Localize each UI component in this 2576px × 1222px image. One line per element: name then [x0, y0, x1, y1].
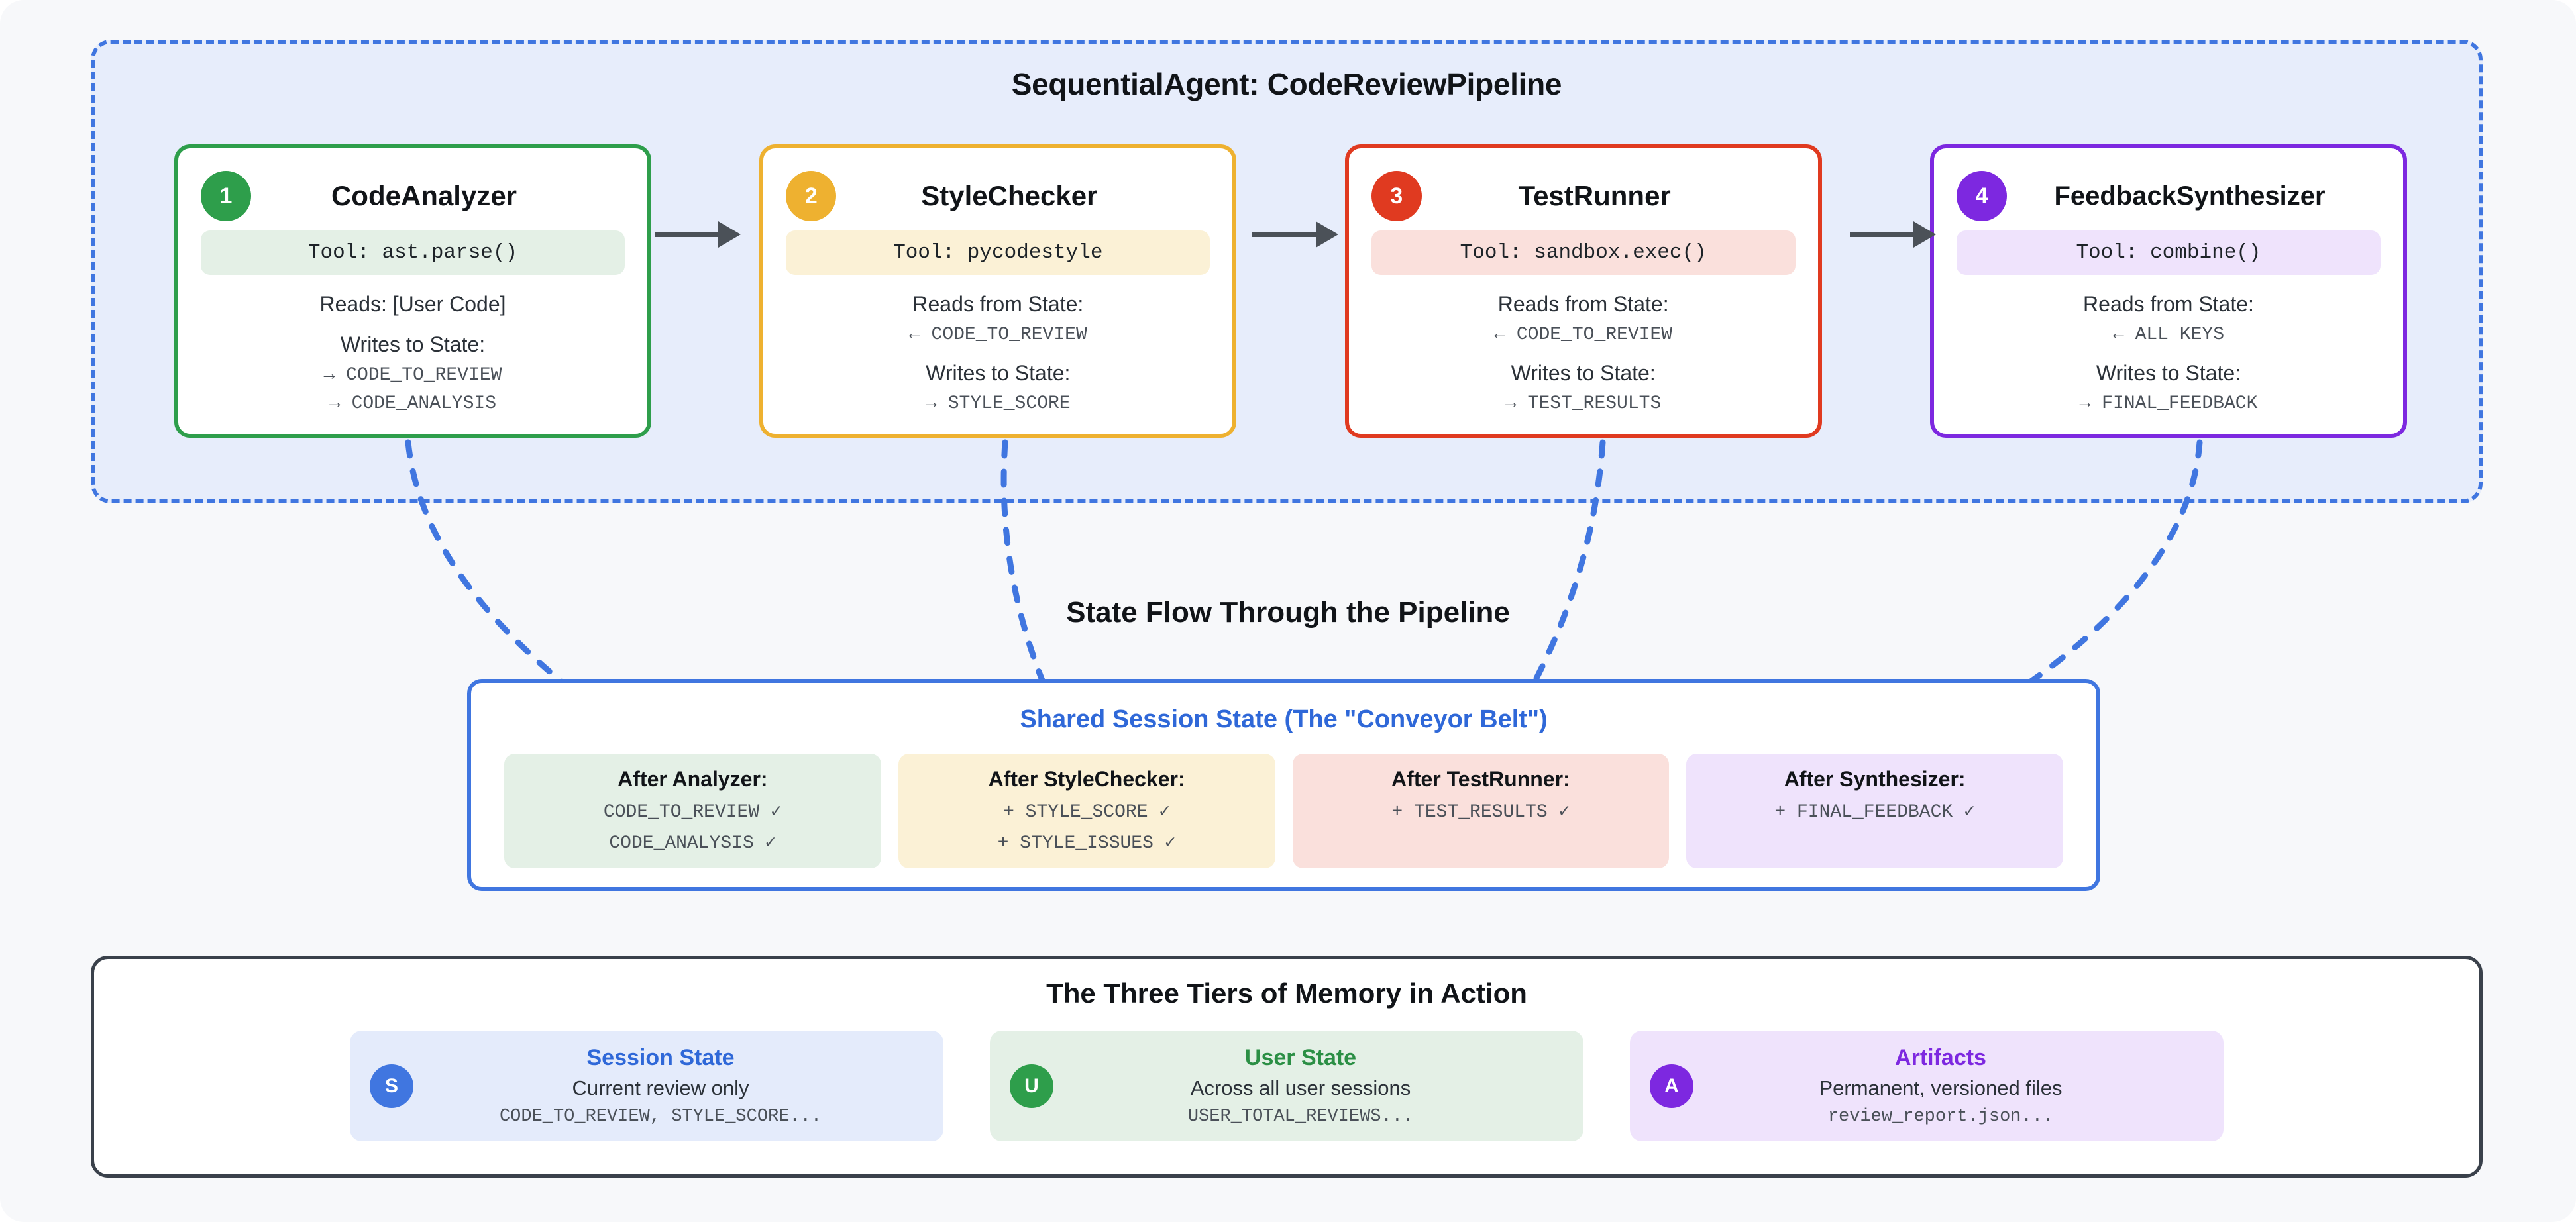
agent-reads-label: Reads from State:: [1957, 292, 2381, 317]
state-flow-heading: State Flow Through the Pipeline: [0, 596, 2576, 629]
agent-step-badge: 1: [201, 171, 251, 221]
stage-key: CODE_TO_REVIEW ✓: [513, 799, 872, 823]
tier-name: Artifacts: [1711, 1045, 2171, 1071]
agent-writes-label: Writes to State:: [201, 332, 625, 357]
agent-name: CodeAnalyzer: [263, 180, 625, 212]
flow-arrow-1-to-2: [655, 221, 741, 248]
agent-card-header: 4 FeedbackSynthesizer: [1957, 166, 2381, 227]
memory-tiers-panel: The Three Tiers of Memory in Action S Se…: [91, 956, 2483, 1178]
stage-key: + TEST_RESULTS ✓: [1302, 799, 1660, 823]
agent-card-testrunner[interactable]: 3 TestRunner Tool: sandbox.exec() Reads …: [1345, 144, 1822, 438]
memory-tiers-title: The Three Tiers of Memory in Action: [94, 978, 2479, 1009]
agent-reads-key: ← CODE_TO_REVIEW: [786, 325, 1210, 345]
memory-tier-user-state[interactable]: U User State Across all user sessions US…: [990, 1031, 1583, 1141]
tier-body: Session State Current review only CODE_T…: [431, 1045, 924, 1127]
memory-tiers-row: S Session State Current review only CODE…: [94, 1009, 2479, 1141]
agent-reads-label: Reads from State:: [1371, 292, 1796, 317]
flow-arrow-2-to-3: [1252, 221, 1338, 248]
agent-tool-chip: Tool: combine(): [1957, 230, 2381, 275]
agent-writes-label: Writes to State:: [1371, 361, 1796, 385]
tier-name: User State: [1071, 1045, 1530, 1071]
agent-card-stylechecker[interactable]: 2 StyleChecker Tool: pycodestyle Reads f…: [759, 144, 1236, 438]
memory-tier-artifacts[interactable]: A Artifacts Permanent, versioned files r…: [1630, 1031, 2224, 1141]
session-state-badge-icon: S: [370, 1064, 413, 1108]
tier-description: Permanent, versioned files: [1711, 1076, 2171, 1100]
state-stage-chip-testrunner: After TestRunner: + TEST_RESULTS ✓: [1293, 754, 1670, 868]
user-state-badge-icon: U: [1010, 1064, 1053, 1108]
tier-description: Current review only: [431, 1076, 890, 1100]
tier-description: Across all user sessions: [1071, 1076, 1530, 1100]
sequential-agent-pipeline: SequentialAgent: CodeReviewPipeline 1 Co…: [91, 40, 2483, 503]
agent-writes-key: → FINAL_FEEDBACK: [1957, 393, 2381, 414]
tier-body: User State Across all user sessions USER…: [1071, 1045, 1564, 1127]
tier-keys: review_report.json...: [1711, 1107, 2171, 1127]
tier-keys: USER_TOTAL_REVIEWS...: [1071, 1107, 1530, 1127]
agent-writes-key: → CODE_TO_REVIEW: [201, 365, 625, 385]
tier-keys: CODE_TO_REVIEW, STYLE_SCORE...: [431, 1107, 890, 1127]
arrow-shaft: [655, 232, 718, 237]
agent-tool-chip: Tool: sandbox.exec(): [1371, 230, 1796, 275]
stage-title: After TestRunner:: [1302, 767, 1660, 791]
agent-name: StyleChecker: [848, 180, 1210, 212]
arrow-shaft: [1850, 232, 1913, 237]
shared-session-state-box: Shared Session State (The "Conveyor Belt…: [467, 679, 2100, 891]
agent-writes-key: → TEST_RESULTS: [1371, 393, 1796, 414]
agent-name: TestRunner: [1434, 180, 1796, 212]
tier-name: Session State: [431, 1045, 890, 1071]
stage-key: + STYLE_SCORE ✓: [908, 799, 1266, 823]
stage-title: After StyleChecker:: [908, 767, 1266, 791]
agent-reads-label: Reads: [User Code]: [201, 292, 625, 317]
agent-card-header: 2 StyleChecker: [786, 166, 1210, 227]
agent-card-header: 3 TestRunner: [1371, 166, 1796, 227]
agent-reads-label: Reads from State:: [786, 292, 1210, 317]
flow-arrow-3-to-4: [1850, 221, 1936, 248]
stage-key: + STYLE_ISSUES ✓: [908, 831, 1266, 854]
stage-key: + FINAL_FEEDBACK ✓: [1695, 799, 2054, 823]
arrow-head-icon: [1316, 221, 1338, 248]
agent-writes-key: → CODE_ANALYSIS: [201, 393, 625, 414]
agent-reads-key: ← CODE_TO_REVIEW: [1371, 325, 1796, 345]
agent-step-badge: 4: [1957, 171, 2007, 221]
arrow-shaft: [1252, 232, 1316, 237]
agent-tool-chip: Tool: pycodestyle: [786, 230, 1210, 275]
stage-title: After Analyzer:: [513, 767, 872, 791]
agent-step-badge: 3: [1371, 171, 1422, 221]
arrow-head-icon: [718, 221, 741, 248]
state-stage-chip-analyzer: After Analyzer: CODE_TO_REVIEW ✓ CODE_AN…: [504, 754, 881, 868]
agent-name: FeedbackSynthesizer: [2019, 181, 2381, 211]
memory-tier-session-state[interactable]: S Session State Current review only CODE…: [350, 1031, 943, 1141]
arrow-head-icon: [1913, 221, 1936, 248]
state-stage-chip-stylechecker: After StyleChecker: + STYLE_SCORE ✓ + ST…: [898, 754, 1275, 868]
stage-title: After Synthesizer:: [1695, 767, 2054, 791]
agent-cards-row: 1 CodeAnalyzer Tool: ast.parse() Reads: …: [174, 144, 2407, 438]
shared-session-state-title: Shared Session State (The "Conveyor Belt…: [471, 705, 2096, 734]
state-stage-chip-synthesizer: After Synthesizer: + FINAL_FEEDBACK ✓: [1686, 754, 2063, 868]
diagram-canvas: SequentialAgent: CodeReviewPipeline 1 Co…: [0, 0, 2576, 1222]
pipeline-title: SequentialAgent: CodeReviewPipeline: [95, 66, 2479, 102]
state-stage-chips-row: After Analyzer: CODE_TO_REVIEW ✓ CODE_AN…: [471, 734, 2096, 868]
agent-reads-key: ← ALL KEYS: [1957, 325, 2381, 345]
agent-card-codeanalyzer[interactable]: 1 CodeAnalyzer Tool: ast.parse() Reads: …: [174, 144, 651, 438]
agent-writes-key: → STYLE_SCORE: [786, 393, 1210, 414]
artifacts-badge-icon: A: [1650, 1064, 1693, 1108]
agent-card-header: 1 CodeAnalyzer: [201, 166, 625, 227]
agent-tool-chip: Tool: ast.parse(): [201, 230, 625, 275]
tier-body: Artifacts Permanent, versioned files rev…: [1711, 1045, 2204, 1127]
agent-writes-label: Writes to State:: [1957, 361, 2381, 385]
agent-card-feedbacksynthesizer[interactable]: 4 FeedbackSynthesizer Tool: combine() Re…: [1930, 144, 2407, 438]
agent-step-badge: 2: [786, 171, 836, 221]
stage-key: CODE_ANALYSIS ✓: [513, 831, 872, 854]
agent-writes-label: Writes to State:: [786, 361, 1210, 385]
